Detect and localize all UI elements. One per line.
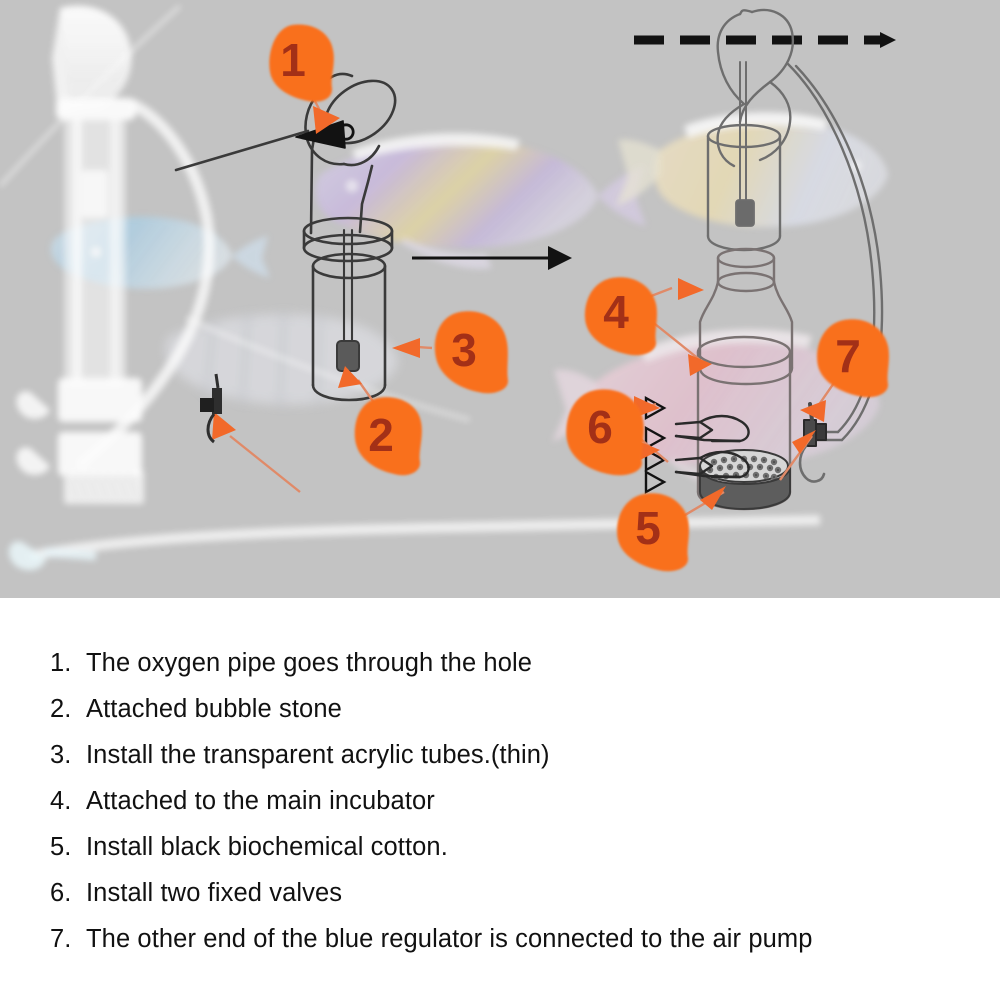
instruction-text-5: Install black biochemical cotton.	[86, 824, 448, 870]
badge-6-label: 6	[587, 401, 613, 453]
assembly-diagram: 1 2 3 4	[0, 0, 1000, 598]
diagram-background	[0, 0, 1000, 598]
instruction-item-3: 3. Install the transparent acrylic tubes…	[0, 732, 1000, 778]
instruction-text-3: Install the transparent acrylic tubes.(t…	[86, 732, 550, 778]
diagram-panel: 1 2 3 4	[0, 0, 1000, 598]
instruction-item-2: 2. Attached bubble stone	[0, 686, 1000, 732]
instruction-item-4: 4. Attached to the main incubator	[0, 778, 1000, 824]
instruction-number-5: 5.	[50, 824, 86, 870]
instruction-number-7: 7.	[50, 916, 86, 962]
badge-5-label: 5	[635, 502, 661, 554]
badge-3-label: 3	[451, 324, 477, 376]
instruction-item-7: 7. The other end of the blue regulator i…	[0, 916, 1000, 962]
instruction-text-7: The other end of the blue regulator is c…	[86, 916, 813, 962]
badge-1-label: 1	[280, 34, 306, 86]
instruction-number-6: 6.	[50, 870, 86, 916]
instruction-number-1: 1.	[50, 640, 86, 686]
badge-7-label: 7	[835, 330, 861, 382]
instruction-number-4: 4.	[50, 778, 86, 824]
instruction-text-6: Install two fixed valves	[86, 870, 342, 916]
bubble-stone-left	[337, 341, 359, 371]
bubble-stone-right	[736, 200, 754, 226]
instruction-text-2: Attached bubble stone	[86, 686, 342, 732]
badge-4-label: 4	[603, 286, 629, 338]
instruction-text-1: The oxygen pipe goes through the hole	[86, 640, 532, 686]
badge-2-label: 2	[368, 409, 394, 461]
assembly-instruction-list: 1. The oxygen pipe goes through the hole…	[0, 598, 1000, 1000]
instruction-item-6: 6. Install two fixed valves	[0, 870, 1000, 916]
instruction-sheet-page: 1 2 3 4	[0, 0, 1000, 1000]
instruction-number-3: 3.	[50, 732, 86, 778]
instruction-number-2: 2.	[50, 686, 86, 732]
instruction-text-4: Attached to the main incubator	[86, 778, 435, 824]
instruction-item-5: 5. Install black biochemical cotton.	[0, 824, 1000, 870]
instruction-item-1: 1. The oxygen pipe goes through the hole	[0, 640, 1000, 686]
